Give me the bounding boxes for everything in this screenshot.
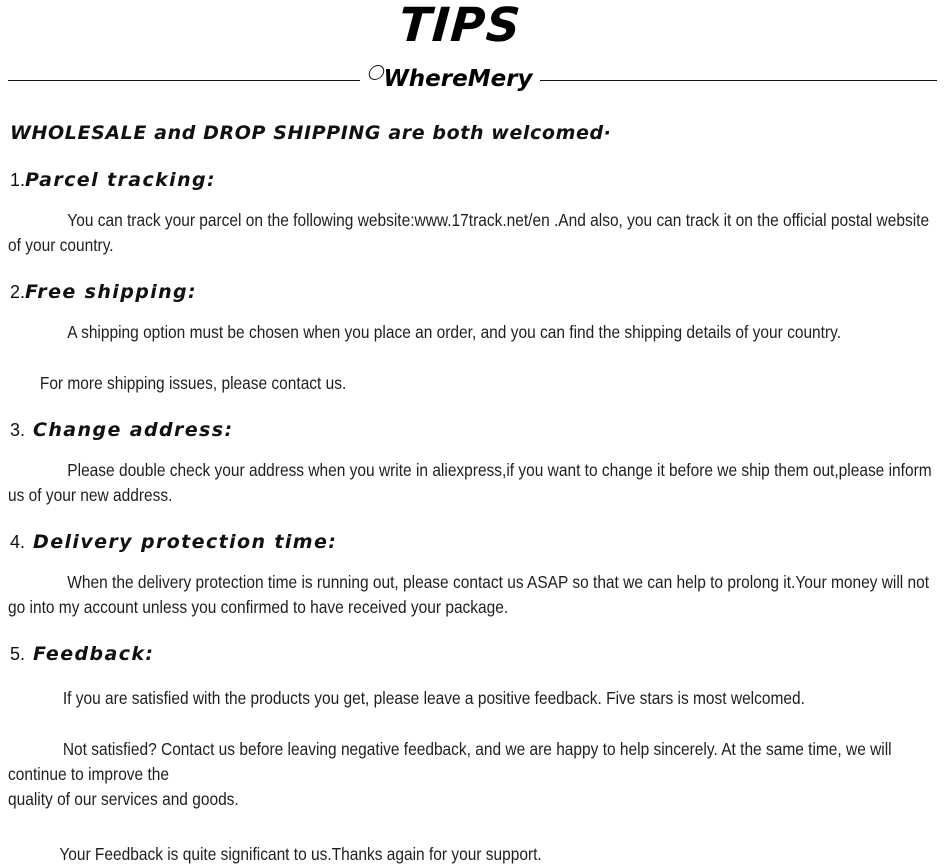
document-page: TIPS WhereMery WHOLESALE and DROP SHIPPI… [0,0,945,794]
section-heading-delivery-protection-time: 4. Delivery protection time: [10,529,937,556]
section-number: 3. [10,420,25,440]
section-paragraph: When the delivery protection time is run… [8,570,936,620]
brand-rule-row: WhereMery [0,62,945,96]
section-paragraph: You can track your parcel on the followi… [8,208,936,258]
section-paragraph: For more shipping issues, please contact… [8,371,936,396]
divider-right [540,80,937,81]
section-heading-parcel-tracking: 1.Parcel tracking: [10,167,937,194]
section-paragraph: Your Feedback is quite significant to us… [8,842,936,867]
page-title: TIPS [0,0,922,54]
divider-left [8,80,360,81]
section-title: Parcel tracking: [25,169,216,191]
section-heading-free-shipping: 2.Free shipping: [10,279,937,306]
lead-statement: WHOLESALE and DROP SHIPPING are both wel… [10,120,937,146]
section-paragraph: If you are satisfied with the products y… [8,686,936,711]
section-title: Free shipping: [25,281,197,303]
section-number: 2. [10,282,25,302]
section-number: 1. [10,170,25,190]
document-body: WHOLESALE and DROP SHIPPING are both wel… [0,120,945,867]
document-header: TIPS WhereMery [0,0,945,98]
section-paragraph: A shipping option must be chosen when yo… [8,320,936,345]
section-heading-feedback: 5. Feedback: [10,641,937,668]
section-title: Delivery protection time: [25,531,337,553]
section-number: 5. [10,644,25,664]
brand-logo: WhereMery [360,62,542,96]
brand-name: WhereMery [383,66,532,92]
section-paragraph: Not satisfied? Contact us before leaving… [8,737,936,787]
section-heading-change-address: 3. Change address: [10,417,937,444]
section-title: Change address: [25,419,233,441]
section-paragraph: quality of our services and goods. [8,787,936,812]
section-paragraph: Please double check your address when yo… [8,458,936,508]
section-title: Feedback: [25,643,154,665]
section-number: 4. [10,532,25,552]
